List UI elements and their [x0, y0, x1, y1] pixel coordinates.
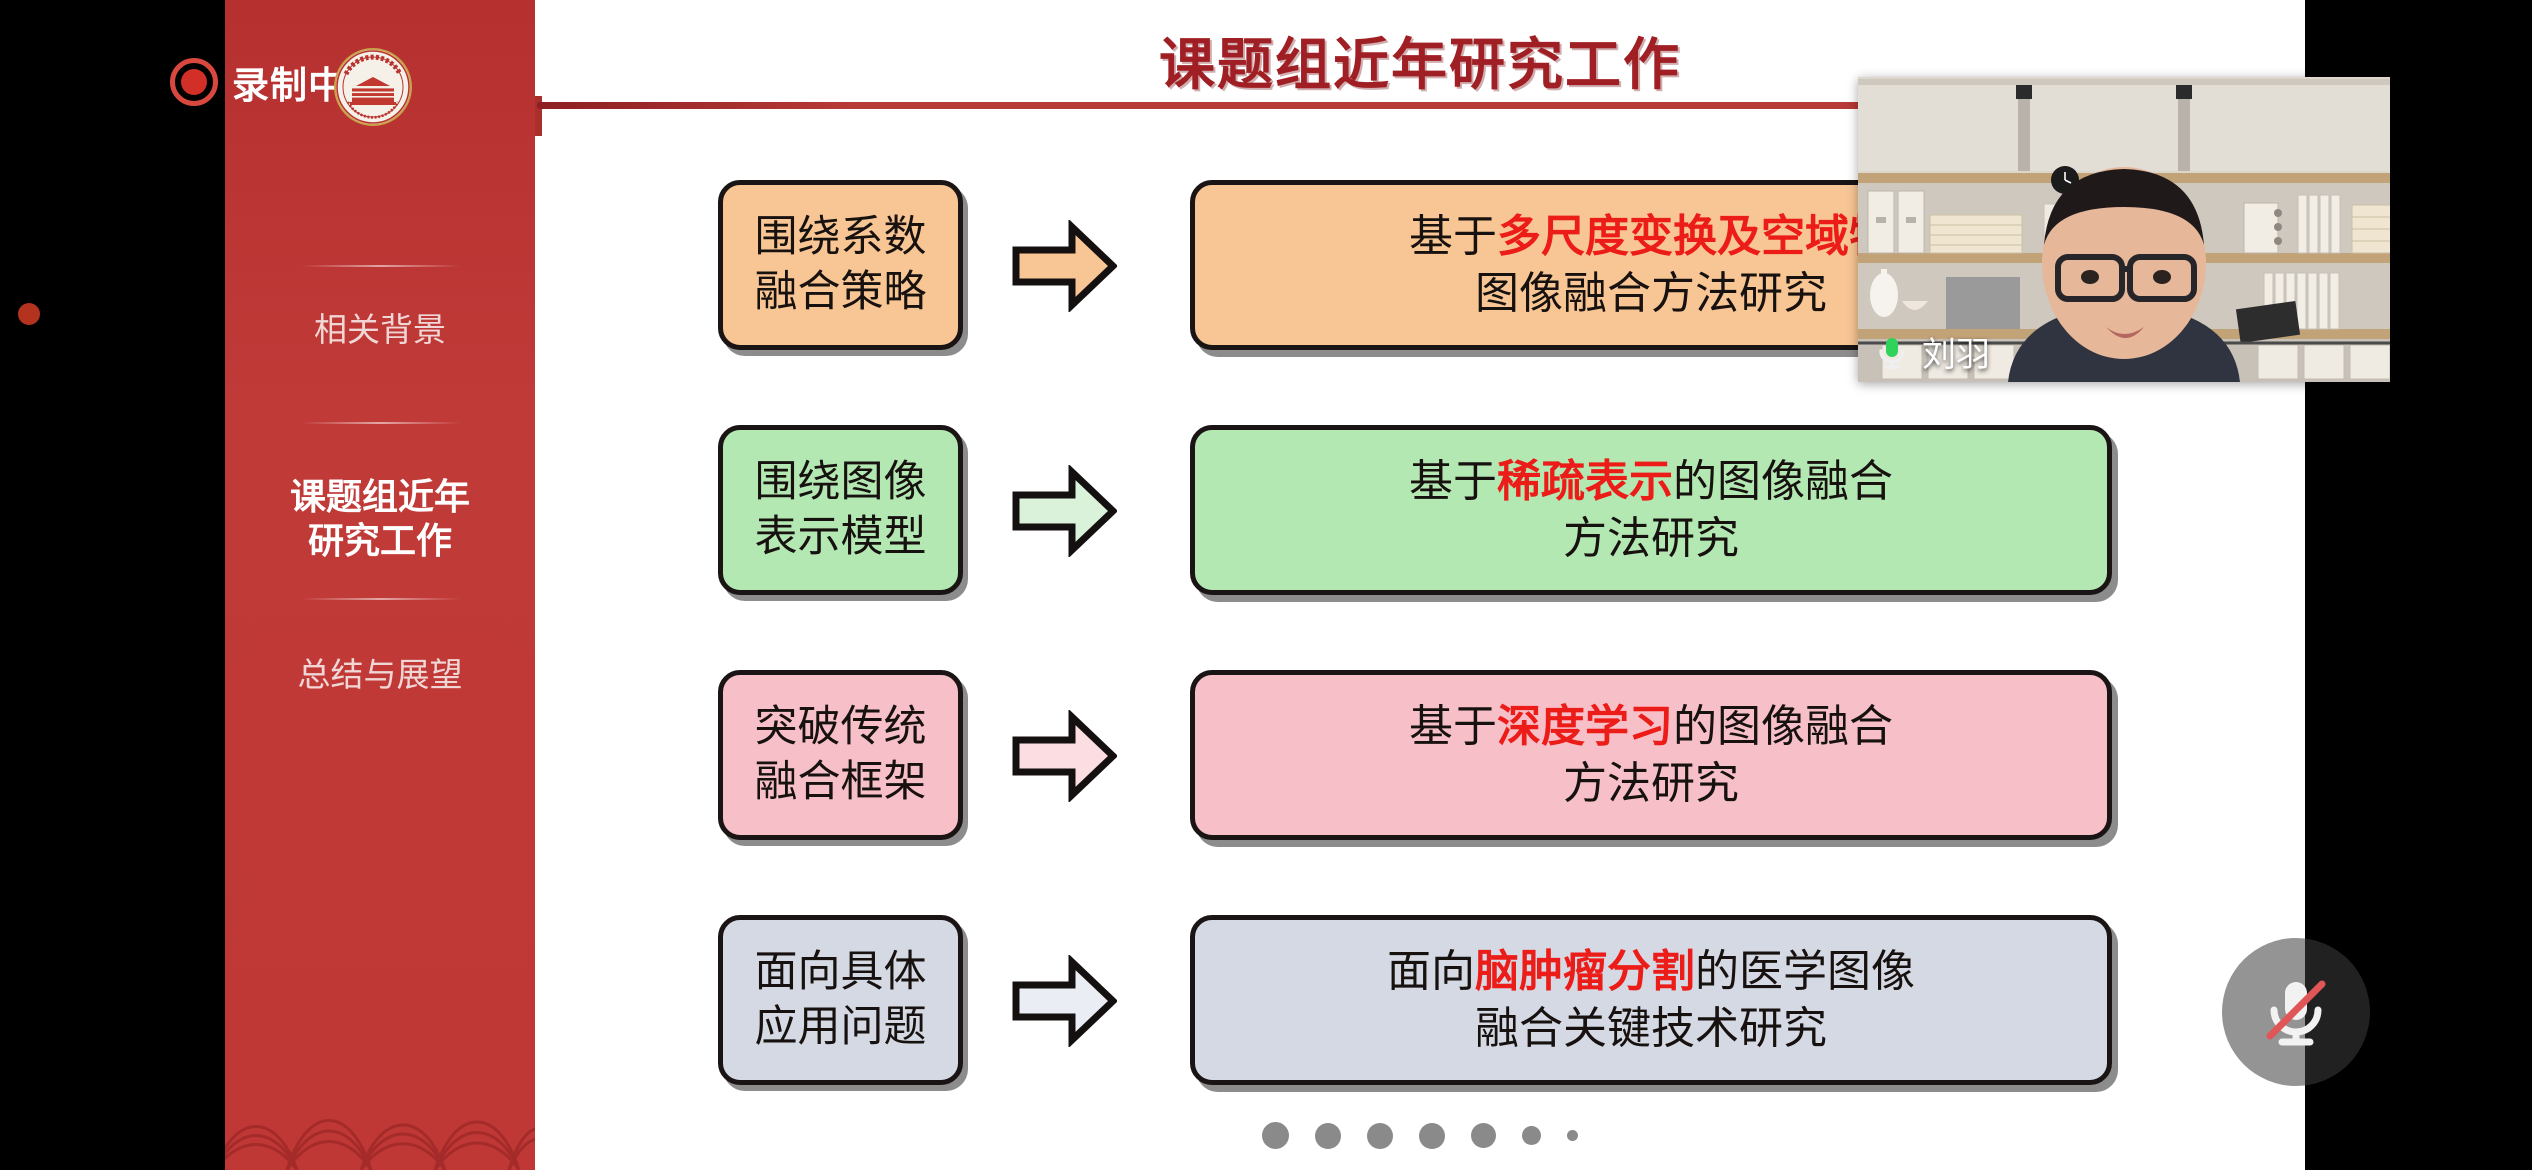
row-left-line2: 融合策略	[755, 267, 927, 317]
row-left-line2: 表示模型	[755, 512, 927, 562]
row-right-text: 基于深度学习的图像融合 方法研究	[1409, 698, 1893, 812]
row-right-line2: 方法研究	[1563, 758, 1739, 809]
row-right-text: 基于多尺度变换及空域特 图像融合方法研究	[1409, 208, 1893, 322]
row-right-line1-post: 的图像融合	[1673, 701, 1893, 752]
pagination-dot	[1471, 1123, 1496, 1148]
university-seal-logo	[334, 48, 412, 126]
row-right-line2: 方法研究	[1563, 513, 1739, 564]
row-right-line1-pre: 面向	[1387, 946, 1475, 997]
right-arrow-icon	[1012, 710, 1117, 802]
left-letterbox	[0, 0, 225, 1170]
row-right-text: 基于稀疏表示的图像融合 方法研究	[1409, 453, 1893, 567]
row-right-line1-post: 的图像融合	[1673, 456, 1893, 507]
nav-divider-mid-1	[301, 422, 461, 424]
row-right-line2: 图像融合方法研究	[1475, 268, 1827, 319]
row-left-line2: 应用问题	[755, 1002, 927, 1052]
pagination-dot	[1567, 1130, 1578, 1141]
row-right-box: 基于深度学习的图像融合 方法研究	[1190, 670, 2112, 840]
row-left-box: 围绕图像 表示模型	[718, 425, 963, 595]
row-left-box: 突破传统 融合框架	[718, 670, 963, 840]
recording-indicator: 录制中	[170, 55, 346, 109]
row-left-box: 面向具体 应用问题	[718, 915, 963, 1085]
status-dot	[18, 303, 40, 325]
participant-name-badge: 刘羽	[1872, 327, 1990, 376]
row-left-line1: 围绕系数	[755, 212, 927, 262]
row-left-line2: 融合框架	[755, 757, 927, 807]
row-left-box: 围绕系数 融合策略	[718, 180, 963, 350]
row-left-line1: 围绕图像	[755, 457, 927, 507]
row-left-line1: 突破传统	[755, 702, 927, 752]
record-dot	[181, 69, 207, 95]
row-left-line1: 面向具体	[755, 947, 927, 997]
pagination-dot	[1315, 1123, 1341, 1149]
pagination-dot	[1367, 1123, 1393, 1149]
diagram-row: 面向具体 应用问题 面向脑肿瘤分割的医学图像 融合关键技术研究	[535, 915, 2305, 1095]
row-right-line1-highlight: 多尺度变换及空域特	[1497, 211, 1893, 262]
row-right-line1-pre: 基于	[1409, 211, 1497, 262]
microphone-icon	[1872, 332, 1912, 372]
row-right-line2: 融合关键技术研究	[1475, 1003, 1827, 1054]
record-circle-icon	[170, 58, 218, 106]
sidebar-item-summary[interactable]: 总结与展望	[225, 655, 535, 695]
sidebar-item-recent-research[interactable]: 课题组近年 研究工作	[225, 476, 535, 564]
pagination-dot	[1522, 1126, 1541, 1145]
row-right-line1-highlight: 深度学习	[1497, 701, 1673, 752]
slide-sidebar: 相关背景 课题组近年 研究工作 总结与展望	[225, 0, 535, 1170]
nav-divider-mid-2	[301, 598, 461, 600]
recording-label: 录制中	[232, 55, 346, 109]
row-right-line1-post: 的医学图像	[1695, 946, 1915, 997]
pagination-dot	[1419, 1123, 1445, 1149]
participant-name: 刘羽	[1922, 327, 1990, 376]
microphone-muted-icon	[2250, 966, 2342, 1058]
row-right-line1-highlight: 脑肿瘤分割	[1475, 946, 1695, 997]
right-arrow-icon	[1012, 465, 1117, 557]
row-right-box: 面向脑肿瘤分割的医学图像 融合关键技术研究	[1190, 915, 2112, 1085]
row-left-text: 突破传统 融合框架	[755, 700, 927, 810]
sidebar-item-label: 相关背景	[225, 310, 535, 350]
meeting-screen-share-view: 录制中	[0, 0, 2532, 1170]
sidebar-item-label-line1: 课题组近年	[225, 476, 535, 520]
diagram-row: 突破传统 融合框架 基于深度学习的图像融合 方法研究	[535, 670, 2305, 850]
row-right-box: 基于稀疏表示的图像融合 方法研究	[1190, 425, 2112, 595]
row-right-line1-pre: 基于	[1409, 701, 1497, 752]
row-left-text: 围绕图像 表示模型	[755, 455, 927, 565]
row-right-line1-pre: 基于	[1409, 456, 1497, 507]
sidebar-item-label-line2: 研究工作	[225, 520, 535, 564]
row-left-text: 面向具体 应用问题	[755, 945, 927, 1055]
row-left-text: 围绕系数 融合策略	[755, 210, 927, 320]
row-right-text: 面向脑肿瘤分割的医学图像 融合关键技术研究	[1387, 943, 1915, 1057]
right-arrow-icon	[1012, 955, 1117, 1047]
sidebar-item-label: 总结与展望	[225, 655, 535, 695]
nav-divider-top	[301, 265, 461, 267]
slide-navigation: 相关背景 课题组近年 研究工作 总结与展望	[225, 0, 535, 1170]
sidebar-item-background[interactable]: 相关背景	[225, 310, 535, 350]
slide-pagination-dots	[535, 1122, 2305, 1149]
microphone-muted-button[interactable]	[2222, 938, 2370, 1086]
right-arrow-icon	[1012, 220, 1117, 312]
participant-video-tile[interactable]: 刘羽	[1858, 77, 2390, 382]
pagination-dot	[1262, 1122, 1289, 1149]
row-right-line1-highlight: 稀疏表示	[1497, 456, 1673, 507]
diagram-row: 围绕图像 表示模型 基于稀疏表示的图像融合 方法研究	[535, 425, 2305, 605]
